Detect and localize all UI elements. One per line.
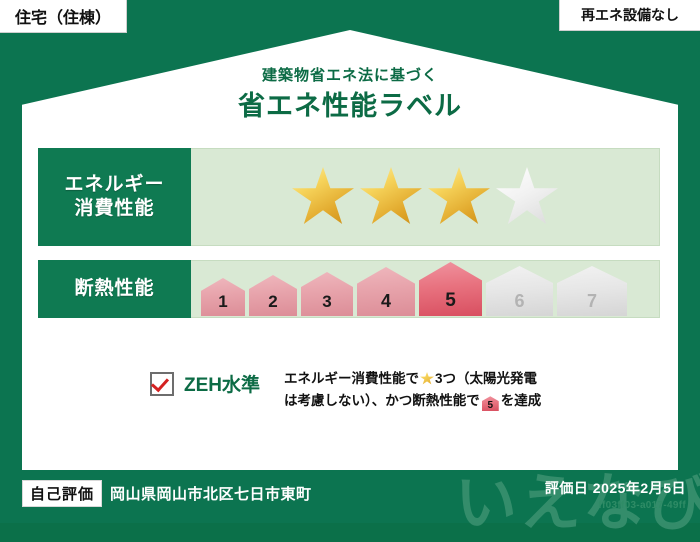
star-icon-2	[360, 167, 422, 227]
grade-house-2: 2	[249, 275, 297, 316]
grade-house-7: 7	[557, 266, 627, 316]
evaluation-date: 評価日 2025年2月5日	[545, 478, 686, 498]
grade-house-1: 1	[201, 278, 245, 316]
star-rating	[292, 167, 558, 227]
insulation-performance-value: 1 2 3 4 5 6 7	[191, 260, 660, 318]
energy-label-line2: 消費性能	[74, 197, 154, 221]
self-evaluation-badge: 自己評価	[22, 480, 102, 507]
grade-house-3: 3	[301, 272, 353, 316]
star-icon-4	[496, 167, 558, 227]
energy-performance-value	[191, 148, 660, 246]
zeh-description: エネルギー消費性能で3つ（太陽光発電 は考慮しない）、かつ断熱性能で5を達成	[284, 368, 541, 413]
grade-house-6: 6	[486, 266, 553, 316]
footer-right: 評価日 2025年2月5日 ff03ff03-a017-49ff	[545, 478, 686, 511]
property-address: 岡山県岡山市北区七日市東町	[110, 483, 312, 504]
label-board: いえなび 住宅（住棟） 再エネ設備なし 建築物省エネ法に基づく 省エネ性能ラベル…	[0, 0, 700, 523]
zeh-description-line2: は考慮しない）、かつ断熱性能で5を達成	[284, 390, 541, 412]
grade-house-4: 4	[357, 267, 415, 316]
insulation-performance-label: 断熱性能	[38, 260, 191, 318]
grade-house-5: 5	[419, 262, 482, 316]
energy-performance-label: エネルギー 消費性能	[38, 148, 191, 246]
zeh-desc-text-2b: を達成	[501, 393, 542, 408]
insulation-label-line1: 断熱性能	[74, 277, 154, 301]
renewable-energy-tab: 再エネ設備なし	[559, 0, 700, 31]
star-icon-3	[428, 167, 490, 227]
checkbox-checked-icon	[150, 372, 174, 396]
zeh-description-line1: エネルギー消費性能で3つ（太陽光発電	[284, 368, 541, 390]
energy-performance-row: エネルギー 消費性能	[38, 148, 660, 246]
zeh-title: ZEH水準	[184, 370, 260, 397]
label-title: 省エネ性能ラベル	[0, 84, 700, 123]
star-inline-icon	[420, 372, 434, 385]
building-type-tab: 住宅（住棟）	[0, 0, 127, 33]
grade-scale: 1 2 3 4 5 6 7	[201, 262, 627, 316]
label-subtitle: 建築物省エネ法に基づく	[0, 64, 700, 85]
footer-left: 自己評価 岡山県岡山市北区七日市東町	[22, 480, 312, 507]
zeh-desc-text-1a: エネルギー消費性能で	[284, 371, 419, 386]
star-icon-1	[292, 167, 354, 227]
zeh-desc-text-1b: 3つ（太陽光発電	[435, 371, 537, 386]
evaluation-id: ff03ff03-a017-49ff	[545, 500, 686, 511]
energy-label-line1: エネルギー	[64, 173, 164, 197]
zeh-note: ZEH水準 エネルギー消費性能で3つ（太陽光発電 は考慮しない）、かつ断熱性能で…	[150, 368, 541, 413]
insulation-performance-row: 断熱性能 1 2 3 4 5 6 7	[38, 260, 660, 318]
grade-house-inline-icon: 5	[482, 396, 499, 411]
zeh-desc-text-2a: は考慮しない）、かつ断熱性能で	[284, 393, 480, 408]
